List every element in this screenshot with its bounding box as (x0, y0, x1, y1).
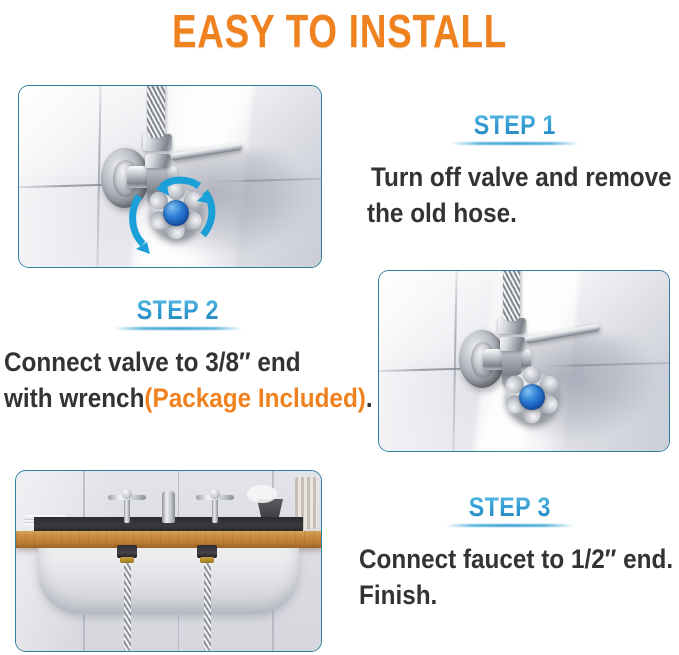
step-1-underline (451, 142, 579, 145)
plant-branch (247, 485, 277, 503)
wooden-countertop (16, 531, 321, 548)
photo-inner (16, 471, 321, 651)
sink-install-photo (15, 470, 322, 652)
step-1-label: STEP 1 (474, 110, 556, 140)
handwheel-blue-cap (163, 200, 189, 226)
step-3-label: STEP 3 (469, 492, 551, 522)
valve-assembly (19, 86, 321, 267)
valve-closeup-photo (378, 270, 670, 452)
faucet-left-stem (124, 497, 130, 523)
valve-rotation-photo (18, 85, 322, 268)
sink-basin (38, 548, 299, 614)
step-2-line-2-period: . (366, 383, 373, 413)
faucet-right-stem (212, 497, 218, 523)
step-2-underline (114, 327, 242, 330)
step-2-line-2: with wrench(Package Included). (4, 380, 321, 416)
infographic-canvas: EASY TO INSTALL (0, 0, 679, 655)
supply-connector-left (117, 545, 137, 558)
faucet-spout (162, 491, 175, 523)
photo-inner (379, 271, 669, 451)
valve-handwheel (506, 371, 558, 423)
valve-handwheel (150, 187, 202, 239)
valve-lever-handle (170, 143, 242, 161)
wood-grain (16, 531, 321, 548)
valve-assembly (379, 271, 669, 451)
valve-lever-handle (524, 324, 600, 344)
step-3-line-2: Finish. (359, 577, 643, 613)
step-1-line-2: the old hose. (367, 195, 644, 231)
step-1-line-1: Turn off valve and remove (371, 159, 659, 195)
step-1-block: STEP 1 Turn off valve and remove the old… (355, 110, 675, 231)
handwheel-lobe (523, 366, 541, 384)
braided-hose (503, 271, 520, 321)
step-3-block: STEP 3 Connect faucet to 1/2″ end. Finis… (345, 492, 675, 613)
step-1-label-wrap: STEP 1 (355, 110, 675, 145)
compression-nut-lower (500, 337, 525, 351)
step-2-line-1: Connect valve to 3/8″ end (4, 344, 321, 380)
faucet-left-top-ball (122, 489, 132, 499)
braided-hose (147, 86, 165, 138)
supply-connector-right (197, 545, 217, 558)
handwheel-lobe (167, 182, 185, 200)
step-2-line-2-plain: with wrench (4, 383, 144, 413)
braided-hose-right (204, 563, 211, 651)
step-2-package-included: (Package Included) (144, 383, 365, 413)
step-2-block: STEP 2 Connect valve to 3/8″ end with wr… (0, 295, 356, 416)
step-3-underline (446, 524, 574, 527)
page-title: EASY TO INSTALL (68, 4, 611, 58)
compression-nut-lower (145, 154, 171, 168)
step-2-label-wrap: STEP 2 (0, 295, 356, 330)
step-3-line-1: Connect faucet to 1/2″ end. (359, 541, 643, 577)
handwheel-blue-cap (519, 384, 545, 410)
braided-hose-left (124, 563, 131, 651)
photo-inner (19, 86, 321, 267)
step-2-label: STEP 2 (137, 295, 219, 325)
faucet-right-top-ball (210, 489, 220, 499)
step-3-label-wrap: STEP 3 (345, 492, 675, 527)
